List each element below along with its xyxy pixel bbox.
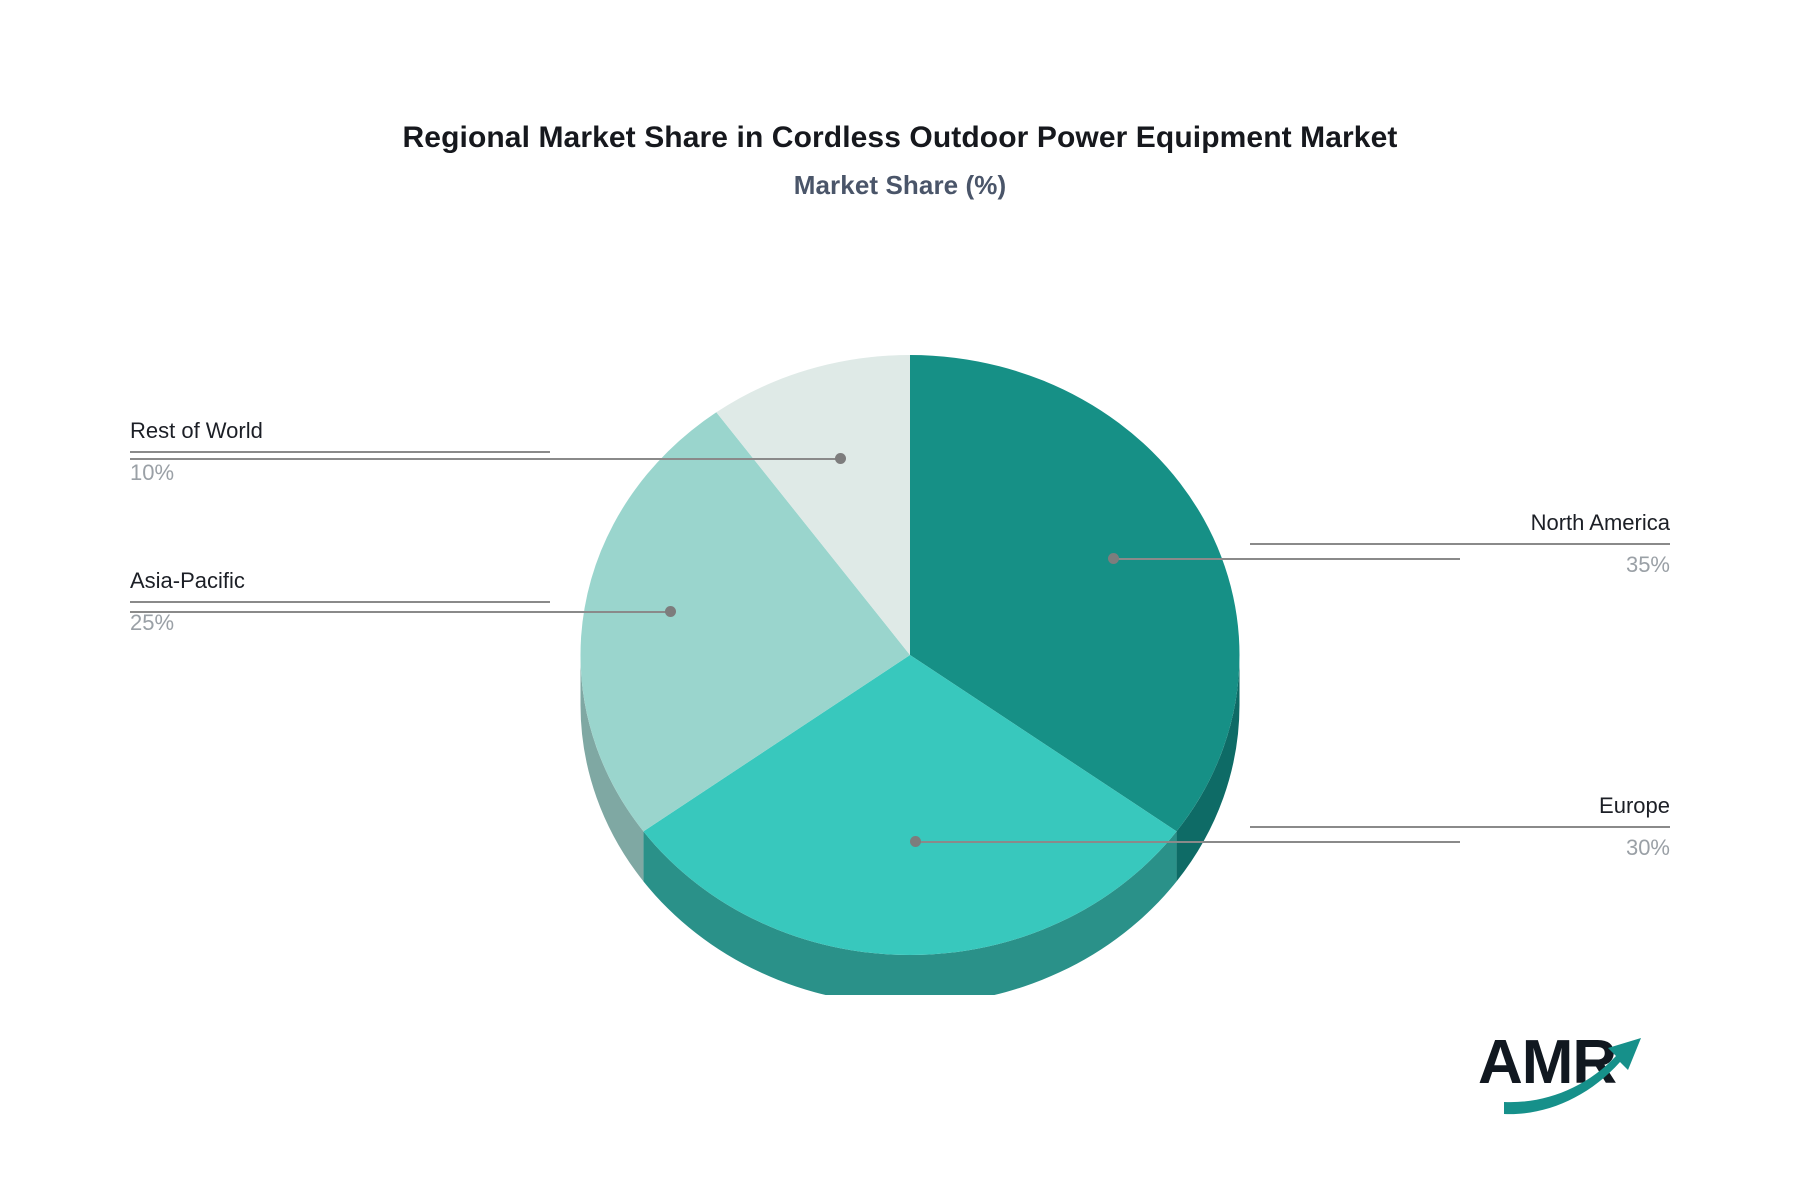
callout-europe[interactable]: Europe 30%: [1250, 795, 1670, 859]
callout-rule-europe: [1250, 826, 1670, 828]
chart-subtitle: Market Share (%): [0, 170, 1800, 201]
callout-rule-north-america: [1250, 543, 1670, 545]
callout-rest-of-world[interactable]: Rest of World 10%: [130, 420, 550, 484]
title-block: Regional Market Share in Cordless Outdoo…: [0, 120, 1800, 201]
leader-dot-europe: [910, 836, 921, 847]
callout-value-europe: 30%: [1250, 837, 1670, 859]
growth-arrow-icon: [1496, 1036, 1686, 1122]
leader-dot-north-america: [1108, 553, 1119, 564]
callout-value-asia-pacific: 25%: [130, 612, 550, 634]
leader-dot-asia-pacific: [665, 606, 676, 617]
callout-label-europe: Europe: [1250, 795, 1670, 817]
amr-logo: AMR: [1478, 1026, 1668, 1118]
chart-canvas: Regional Market Share in Cordless Outdoo…: [0, 0, 1800, 1196]
pie-chart: [560, 355, 1260, 995]
chart-title: Regional Market Share in Cordless Outdoo…: [0, 120, 1800, 156]
callout-label-rest-of-world: Rest of World: [130, 420, 550, 442]
callout-rule-rest-of-world: [130, 451, 550, 453]
callout-north-america[interactable]: North America 35%: [1250, 512, 1670, 576]
callout-label-asia-pacific: Asia-Pacific: [130, 570, 550, 592]
callout-asia-pacific[interactable]: Asia-Pacific 25%: [130, 570, 550, 634]
callout-label-north-america: North America: [1250, 512, 1670, 534]
leader-dot-rest-of-world: [835, 453, 846, 464]
pie-top-face: [581, 355, 1240, 955]
callout-value-rest-of-world: 10%: [130, 462, 550, 484]
callout-value-north-america: 35%: [1250, 554, 1670, 576]
callout-rule-asia-pacific: [130, 601, 550, 603]
